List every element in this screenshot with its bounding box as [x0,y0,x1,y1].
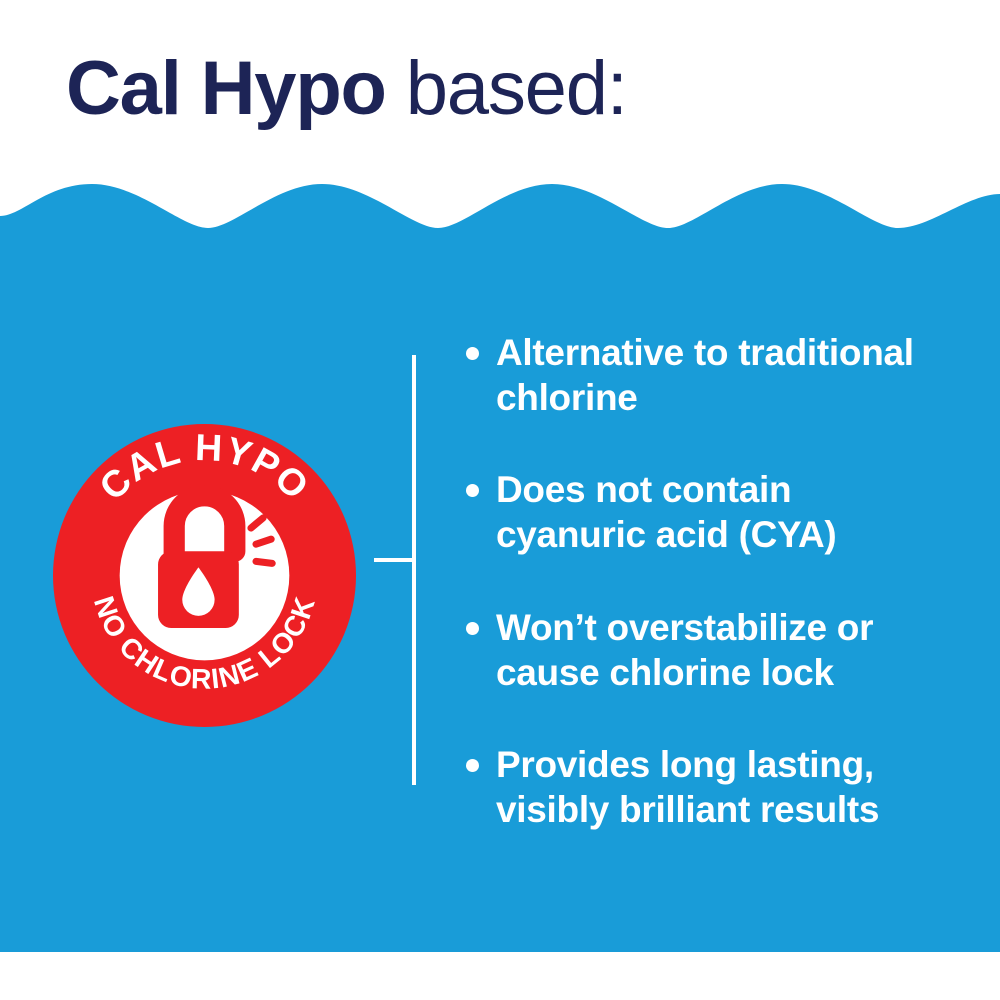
benefit-text: Does not contain cyanuric acid (CYA) [496,467,926,557]
infographic-card: Cal Hypo based: CAL HYPO [0,0,1000,1000]
list-item: Provides long lasting, visibly brilliant… [466,742,936,832]
page-title-strong: Cal Hypo [66,46,386,131]
bullet-dot-icon [466,622,479,635]
bullet-dot-icon [466,759,479,772]
cal-hypo-badge: CAL HYPO NO CHLORINE LOCK [53,424,356,727]
bullet-dot-icon [466,347,479,360]
list-item: Does not contain cyanuric acid (CYA) [466,467,936,557]
benefit-text: Provides long lasting, visibly brilliant… [496,742,926,832]
panel-content: CAL HYPO NO CHLORINE LOCK [0,170,1000,952]
page-title-text: Cal Hypo based: [66,51,627,127]
page-title: Cal Hypo based: [66,34,926,144]
divider [372,355,418,785]
benefit-text: Alternative to traditional chlorine [496,330,926,420]
benefit-text: Won’t overstabilize or cause chlorine lo… [496,605,926,695]
divider-shape [372,355,418,785]
cal-hypo-badge-graphic: CAL HYPO NO CHLORINE LOCK [53,424,356,727]
benefits-list: Alternative to traditional chlorine Does… [466,330,936,832]
list-item: Won’t overstabilize or cause chlorine lo… [466,605,936,695]
list-item: Alternative to traditional chlorine [466,330,936,420]
bullet-dot-icon [466,484,479,497]
page-title-rest: based: [386,46,627,131]
